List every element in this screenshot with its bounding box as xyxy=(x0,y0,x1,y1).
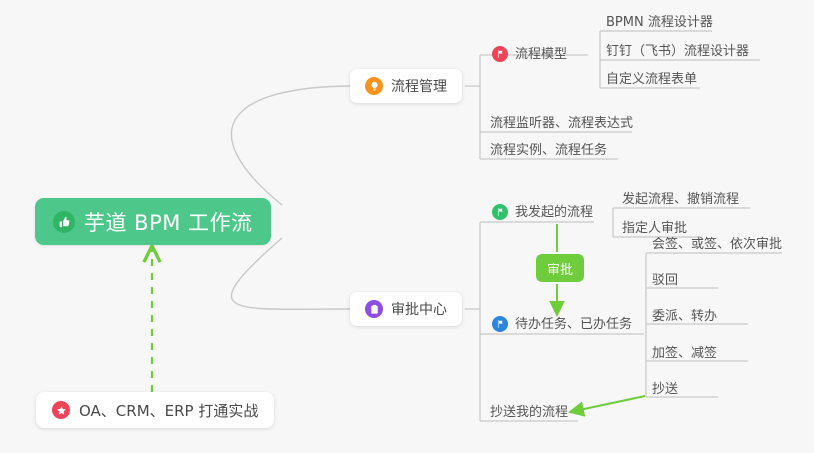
node-dingtalk-feishu-designer[interactable]: 钉钉（飞书）流程设计器 xyxy=(606,40,749,62)
node-process-model[interactable]: 流程模型 xyxy=(492,43,567,65)
node-process-instance-task[interactable]: 流程实例、流程任务 xyxy=(490,139,607,161)
clipboard-icon xyxy=(365,300,383,318)
branch-label-process-management: 流程管理 xyxy=(391,76,447,96)
node-label-process-instance-task: 流程实例、流程任务 xyxy=(490,144,607,157)
wire-root-to-approval-center xyxy=(231,238,350,309)
thumbs-up-icon xyxy=(53,211,75,233)
node-bpmn-designer[interactable]: BPMN 流程设计器 xyxy=(606,11,713,33)
node-label-reject: 驳回 xyxy=(652,274,678,287)
wire-root-to-process-management xyxy=(231,86,350,205)
node-countersign-orsign-sequential[interactable]: 会签、或签、依次审批 xyxy=(652,233,782,255)
root-node[interactable]: 芋道 BPM 工作流 xyxy=(35,198,271,245)
node-label-custom-process-form: 自定义流程表单 xyxy=(606,73,697,86)
node-reject[interactable]: 驳回 xyxy=(652,269,678,291)
oa-crm-erp-callout-label: OA、CRM、ERP 打通实战 xyxy=(79,400,258,421)
node-add-remove-sign[interactable]: 加签、减签 xyxy=(652,342,717,364)
approval-pill[interactable]: 审批 xyxy=(536,254,584,282)
mindmap-canvas: 芋道 BPM 工作流 流程管理 流程模型 BPMN 流程设计器 钉钉（飞书）流程… xyxy=(0,0,814,453)
branch-label-approval-center: 审批中心 xyxy=(391,299,447,319)
approval-pill-label: 审批 xyxy=(547,259,573,278)
node-label-bpmn-designer: BPMN 流程设计器 xyxy=(606,16,713,29)
node-custom-process-form[interactable]: 自定义流程表单 xyxy=(606,68,697,90)
arrow-carbon-copy-to-cc-processes xyxy=(570,396,645,412)
node-label-start-cancel-process: 发起流程、撤销流程 xyxy=(622,193,739,206)
node-process-listener-expression[interactable]: 流程监听器、流程表达式 xyxy=(490,112,633,134)
node-start-cancel-process[interactable]: 发起流程、撤销流程 xyxy=(622,188,739,210)
oa-crm-erp-callout[interactable]: OA、CRM、ERP 打通实战 xyxy=(36,392,274,428)
node-cc-to-me-processes[interactable]: 抄送我的流程 xyxy=(490,401,568,423)
branch-node-approval-center[interactable]: 审批中心 xyxy=(350,292,462,326)
root-label: 芋道 BPM 工作流 xyxy=(84,207,253,237)
node-label-carbon-copy: 抄送 xyxy=(652,383,678,396)
flag-icon xyxy=(492,316,508,332)
node-carbon-copy[interactable]: 抄送 xyxy=(652,378,678,400)
node-label-countersign-orsign-sequential: 会签、或签、依次审批 xyxy=(652,238,782,251)
node-delegate-transfer[interactable]: 委派、转办 xyxy=(652,305,717,327)
node-todo-done-tasks[interactable]: 待办任务、已办任务 xyxy=(492,313,632,335)
node-label-cc-to-me-processes: 抄送我的流程 xyxy=(490,406,568,419)
node-label-delegate-transfer: 委派、转办 xyxy=(652,310,717,323)
lightbulb-icon xyxy=(365,77,383,95)
flag-icon xyxy=(492,46,508,62)
node-label-add-remove-sign: 加签、减签 xyxy=(652,347,717,360)
node-label-dingtalk-feishu-designer: 钉钉（飞书）流程设计器 xyxy=(606,45,749,58)
node-my-initiated-processes[interactable]: 我发起的流程 xyxy=(492,201,593,223)
node-label-my-initiated-processes: 我发起的流程 xyxy=(515,206,593,219)
node-label-process-model: 流程模型 xyxy=(515,48,567,61)
star-icon xyxy=(52,401,70,419)
node-label-todo-done-tasks: 待办任务、已办任务 xyxy=(515,318,632,331)
node-label-process-listener-expression: 流程监听器、流程表达式 xyxy=(490,117,633,130)
branch-node-process-management[interactable]: 流程管理 xyxy=(350,69,462,103)
flag-icon xyxy=(492,204,508,220)
